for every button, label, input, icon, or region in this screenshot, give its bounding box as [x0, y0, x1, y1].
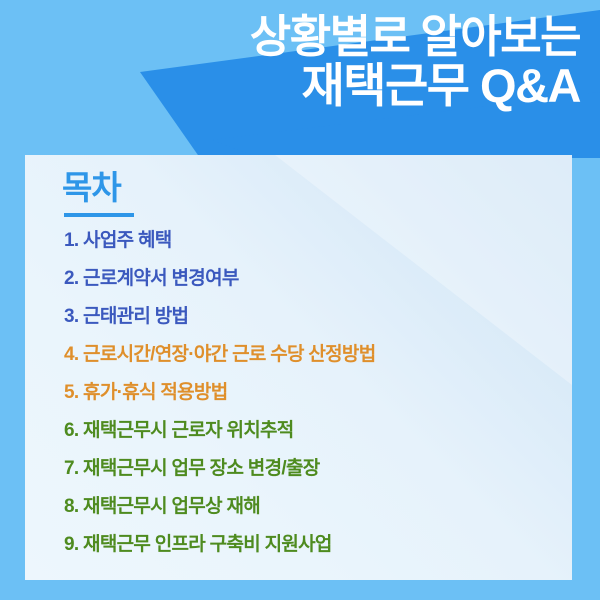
- toc-item-label: 휴가·휴식 적용방법: [83, 382, 227, 403]
- toc-item-9[interactable]: 9. 재택근무 인프라 구축비 지원사업: [62, 535, 572, 554]
- toc-item-number: 7.: [64, 458, 78, 479]
- toc-item-number: 3.: [64, 306, 78, 327]
- hero-header: 상황별로 알아보는 재택근무 Q&A: [0, 0, 600, 158]
- toc-item-number: 2.: [64, 268, 78, 289]
- toc-item-number: 4.: [64, 344, 78, 365]
- toc-item-number: 1.: [64, 230, 78, 251]
- toc-list: 1. 사업주 혜택 2. 근로계약서 변경여부 3. 근태관리 방법 4. 근로…: [62, 231, 572, 554]
- toc-item-number: 9.: [64, 534, 78, 555]
- toc-item-6[interactable]: 6. 재택근무시 근로자 위치추적: [62, 421, 572, 440]
- toc-item-5[interactable]: 5. 휴가·휴식 적용방법: [62, 383, 572, 402]
- toc-heading-underline: [64, 213, 134, 217]
- toc-item-7[interactable]: 7. 재택근무시 업무 장소 변경/출장: [62, 459, 572, 478]
- toc-item-label: 근로시간/연장·야간 근로 수당 산정방법: [83, 344, 375, 365]
- toc-item-number: 5.: [64, 382, 78, 403]
- toc-item-label: 재택근무시 업무상 재해: [83, 496, 260, 517]
- poster-canvas: 상황별로 알아보는 재택근무 Q&A 목차 1. 사업주 혜택 2. 근로계약서…: [0, 0, 600, 600]
- toc-item-label: 근로계약서 변경여부: [83, 268, 239, 289]
- toc-item-label: 근태관리 방법: [83, 306, 188, 327]
- poster-title: 상황별로 알아보는 재택근무 Q&A: [250, 14, 580, 110]
- toc-item-2[interactable]: 2. 근로계약서 변경여부: [62, 269, 572, 288]
- toc-item-label: 재택근무시 업무 장소 변경/출장: [83, 458, 319, 479]
- toc-item-label: 사업주 혜택: [83, 230, 171, 251]
- toc-item-number: 6.: [64, 420, 78, 441]
- toc-item-label: 재택근무시 근로자 위치추적: [83, 420, 294, 441]
- toc-item-label: 재택근무 인프라 구축비 지원사업: [83, 534, 332, 555]
- title-line-2: 재택근무 Q&A: [250, 62, 580, 110]
- toc-item-8[interactable]: 8. 재택근무시 업무상 재해: [62, 497, 572, 516]
- toc-card: 목차 1. 사업주 혜택 2. 근로계약서 변경여부 3. 근태관리 방법 4.…: [25, 155, 572, 580]
- title-line-1: 상황별로 알아보는: [250, 14, 580, 60]
- toc-item-4[interactable]: 4. 근로시간/연장·야간 근로 수당 산정방법: [62, 345, 572, 364]
- toc-item-1[interactable]: 1. 사업주 혜택: [62, 231, 572, 250]
- toc-heading: 목차: [62, 171, 572, 204]
- toc-item-3[interactable]: 3. 근태관리 방법: [62, 307, 572, 326]
- toc-item-number: 8.: [64, 496, 78, 517]
